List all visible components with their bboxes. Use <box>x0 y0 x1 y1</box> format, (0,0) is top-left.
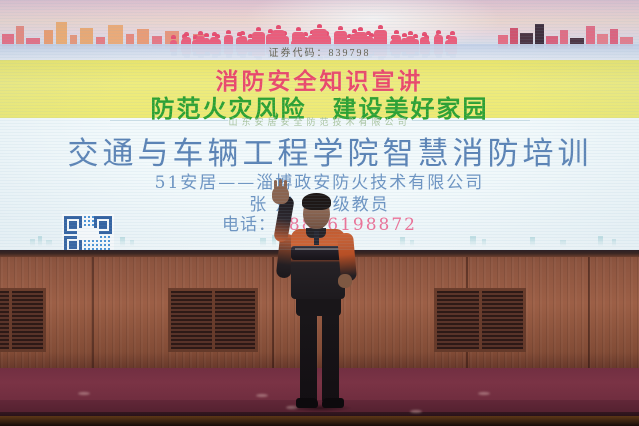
presenter-hair <box>302 193 331 210</box>
presenter-chest-panel <box>291 246 345 260</box>
presenter <box>0 0 639 426</box>
presenter-hand-lowered <box>338 274 352 288</box>
presenter-shoe-right <box>322 398 344 408</box>
presenter-shoe-left <box>296 398 318 408</box>
presenter-tie <box>314 231 319 245</box>
photo-scene: 证券代码：839798 消防安全知识宣讲 防范火灾风险 建设美好家园 山东安居安… <box>0 0 639 426</box>
presenter-hand-raised <box>272 186 289 204</box>
presenter-leg-right <box>322 310 339 402</box>
presenter-leg-left <box>300 310 317 402</box>
